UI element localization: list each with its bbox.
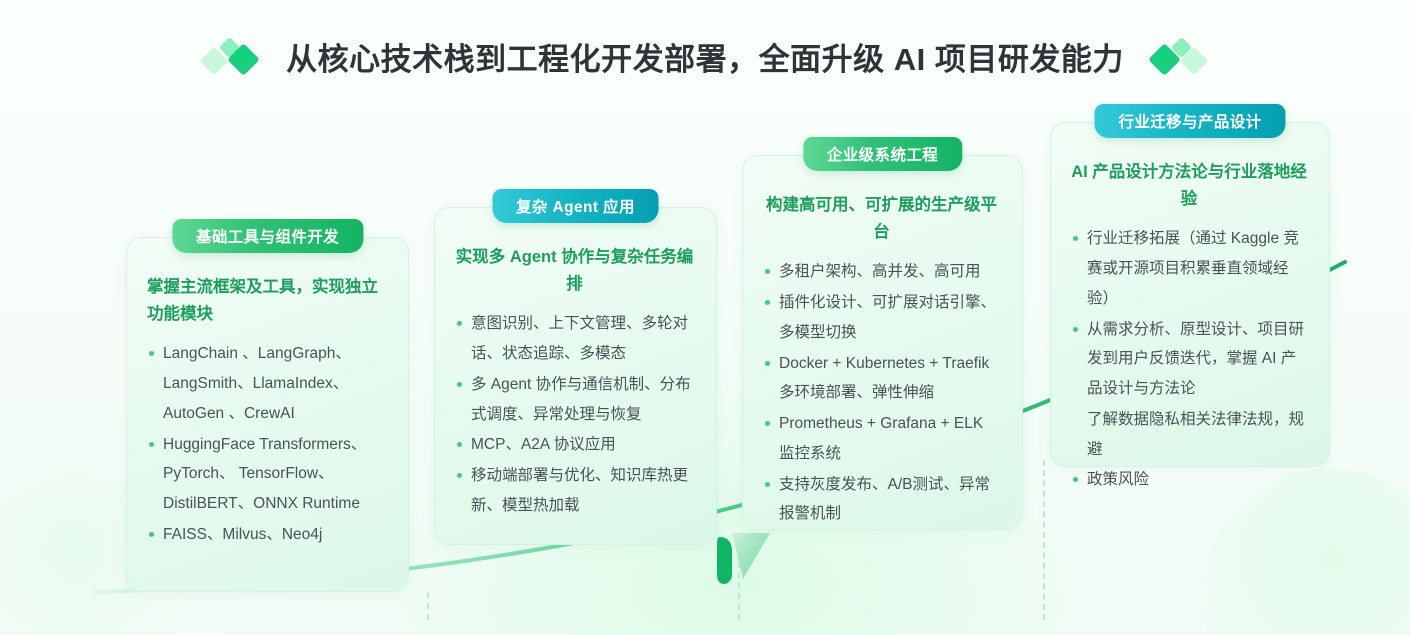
- card-industry-product[interactable]: 行业迁移与产品设计 AI 产品设计方法论与行业落地经验 行业迁移拓展（通过 Ka…: [1050, 122, 1330, 467]
- card-lead-text: 掌握主流框架及工具，实现独立功能模块: [147, 274, 386, 327]
- card-badge: 企业级系统工程: [803, 137, 962, 171]
- list-item: Prometheus + Grafana + ELK 监控系统: [763, 409, 1000, 469]
- card-lead-text: 实现多 Agent 协作与复杂任务编排: [455, 244, 694, 297]
- list-item: HuggingFace Transformers、PyTorch、 Tensor…: [147, 430, 386, 519]
- list-item: 行业迁移拓展（通过 Kaggle 竞赛或开源项目积累垂直领域经验）: [1071, 224, 1307, 313]
- curve-arrow-marker: [712, 527, 774, 587]
- card-enterprise-engineering[interactable]: 企业级系统工程 构建高可用、可扩展的生产级平台 多租户架构、高并发、高可用 插件…: [742, 155, 1023, 530]
- list-item: 意图识别、上下文管理、多轮对话、状态追踪、多模态: [455, 309, 694, 369]
- card-bullet-list: 多租户架构、高并发、高可用 插件化设计、可扩展对话引擎、多模型切换 Docker…: [763, 257, 1000, 529]
- card-bullet-list: LangChain 、LangGraph、LangSmith、LlamaInde…: [147, 339, 386, 549]
- card-badge: 行业迁移与产品设计: [1094, 104, 1285, 138]
- list-item: Docker + Kubernetes + Traefik 多环境部署、弹性伸缩: [763, 349, 1000, 409]
- page-title: 从核心技术栈到工程化开发部署，全面升级 AI 项目研发能力: [286, 34, 1124, 79]
- list-item: 从需求分析、原型设计、项目研发到用户反馈迭代，掌握 AI 产品设计与方法论: [1071, 315, 1307, 404]
- list-item: 插件化设计、可扩展对话引擎、多模型切换: [763, 288, 1000, 348]
- list-item: 多 Agent 协作与通信机制、分布式调度、异常处理与恢复: [455, 370, 694, 430]
- card-badge: 基础工具与组件开发: [172, 219, 363, 253]
- list-item: 支持灰度发布、A/B测试、异常报警机制: [763, 470, 1000, 530]
- list-item: MCP、A2A 协议应用: [455, 430, 694, 460]
- slide-canvas: 从核心技术栈到工程化开发部署，全面升级 AI 项目研发能力 基础工具与组件开发 …: [0, 0, 1410, 635]
- list-item: LangChain 、LangGraph、LangSmith、LlamaInde…: [147, 339, 386, 428]
- list-item: 移动端部署与优化、知识库热更新、模型热加载: [455, 461, 694, 521]
- dashed-divider-2: [738, 562, 740, 620]
- card-complex-agent[interactable]: 复杂 Agent 应用 实现多 Agent 协作与复杂任务编排 意图识别、上下文…: [434, 207, 717, 545]
- dashed-divider-3: [1043, 460, 1045, 620]
- list-item: 了解数据隐私相关法律法规，规避: [1071, 405, 1307, 465]
- list-item: FAISS、Milvus、Neo4j: [147, 520, 386, 550]
- diamond-decoration-left-icon: [202, 37, 260, 77]
- card-badge: 复杂 Agent 应用: [492, 189, 659, 223]
- card-lead-text: AI 产品设计方法论与行业落地经验: [1071, 159, 1307, 212]
- list-item: 政策风险: [1071, 465, 1307, 495]
- title-row: 从核心技术栈到工程化开发部署，全面升级 AI 项目研发能力: [0, 34, 1410, 79]
- list-item: 多租户架构、高并发、高可用: [763, 257, 1000, 287]
- card-foundation-tools[interactable]: 基础工具与组件开发 掌握主流框架及工具，实现独立功能模块 LangChain 、…: [126, 237, 409, 592]
- diamond-decoration-right-icon: [1150, 37, 1208, 77]
- dashed-divider-1: [427, 592, 429, 620]
- card-lead-text: 构建高可用、可扩展的生产级平台: [763, 192, 1000, 245]
- card-bullet-list: 行业迁移拓展（通过 Kaggle 竞赛或开源项目积累垂直领域经验） 从需求分析、…: [1071, 224, 1307, 495]
- card-bullet-list: 意图识别、上下文管理、多轮对话、状态追踪、多模态 多 Agent 协作与通信机制…: [455, 309, 694, 520]
